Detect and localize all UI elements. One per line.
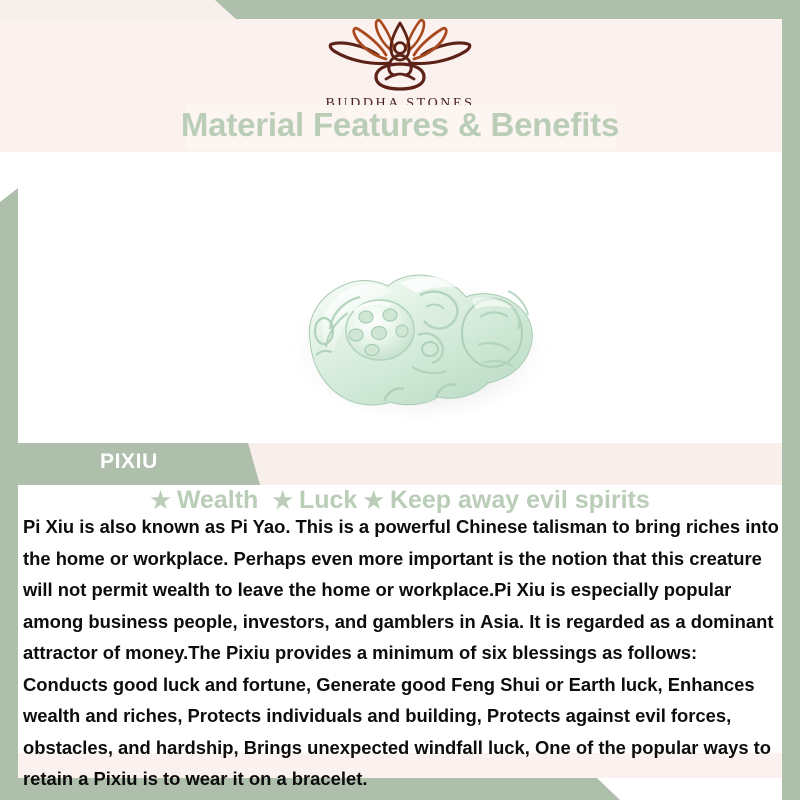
product-name-label: PIXIU (100, 450, 158, 474)
benefit-item-2: Keep away evil spirits (390, 486, 650, 514)
page-title: Material Features & Benefits (0, 106, 800, 144)
lotus-meditation-icon (312, 17, 488, 95)
brand-logo: BUDDHA STONES (0, 17, 800, 112)
star-icon: ★ (272, 487, 293, 513)
description-body: Pi Xiu is also known as Pi Yao. This is … (23, 511, 779, 795)
star-icon: ★ (363, 487, 384, 513)
product-infographic-poster: BUDDHA STONES Material Features & Benefi… (0, 0, 800, 800)
star-icon: ★ (150, 487, 171, 513)
benefit-item-1: Luck (299, 486, 357, 514)
benefit-item-0: Wealth (177, 486, 259, 514)
jade-pixiu-image (280, 255, 560, 430)
